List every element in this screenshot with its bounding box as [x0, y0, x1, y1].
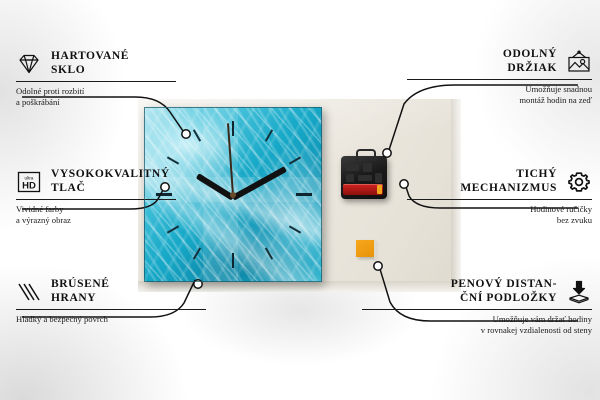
feature-high-quality-print: ultra HD VYSOKOKVALITNÝ TLAČ Vividné far… — [16, 168, 176, 225]
feature-title-line2: SKLO — [51, 64, 129, 78]
feature-subtitle-line1: Umožňuje snadnou — [407, 84, 592, 95]
mechanism-notch-a — [346, 164, 359, 171]
feature-header: TICHÝ MECHANIZMUS — [407, 168, 592, 195]
picture-hanger-icon — [566, 50, 592, 74]
feature-silent-mechanism: TICHÝ MECHANIZMUS Hodinové ručičky bez z… — [407, 168, 592, 225]
feature-foam-spacer-pads: PENOVÝ DISTAN- ČNÍ PODLOŽKY Umožňuje vám… — [362, 278, 592, 335]
mechanism-notch-e — [375, 173, 382, 183]
ground-edges-icon — [16, 280, 42, 304]
feature-title: VYSOKOKVALITNÝ TLAČ — [51, 168, 170, 195]
feature-subtitle: Umožňuje vám držať hodiny v rovnakej vzd… — [362, 314, 592, 335]
feature-title: BRÚSENÉ HRANY — [51, 278, 110, 305]
feature-header: ODOLNÝ DRŽIAK — [407, 48, 592, 75]
feature-subtitle-line2: a poškrábání — [16, 97, 176, 108]
feature-title: TICHÝ MECHANIZMUS — [460, 168, 557, 195]
svg-text:HD: HD — [22, 180, 36, 191]
feature-header: HARTOVANÉ SKLO — [16, 50, 176, 77]
feature-durable-holder: ODOLNÝ DRŽIAK Umožňuje snadnou montáž ho… — [407, 48, 592, 105]
feature-title-line1: ODOLNÝ — [503, 48, 557, 62]
ultra-hd-icon: ultra HD — [16, 170, 42, 194]
foam-spacer-pad — [356, 240, 374, 257]
diamond-icon — [16, 52, 42, 76]
feature-rule — [16, 309, 206, 310]
feature-subtitle-line1: Vividné farby — [16, 204, 176, 215]
clock-tick-6 — [232, 253, 234, 268]
spacer-pad-icon — [566, 280, 592, 304]
feature-subtitle: Vividné farby a výrazný obraz — [16, 204, 176, 225]
feature-title-line1: VYSOKOKVALITNÝ — [51, 168, 170, 182]
feature-header: BRÚSENÉ HRANY — [16, 278, 206, 305]
foam-pad-side-face — [374, 242, 378, 259]
feature-subtitle-line2: montáž hodin na zeď — [407, 95, 592, 106]
battery-positive-terminal — [377, 185, 382, 194]
feature-title-line2: MECHANIZMUS — [460, 182, 557, 196]
feature-header: ultra HD VYSOKOKVALITNÝ TLAČ — [16, 168, 176, 195]
mechanism-notch-c — [346, 174, 354, 182]
clock-hands-cap — [230, 192, 236, 198]
mechanism-hanger-hook — [356, 149, 376, 161]
mechanism-battery — [343, 184, 383, 195]
feature-subtitle: Hladký a bezpečný povrch — [16, 314, 206, 325]
feature-title-line1: HARTOVANÉ — [51, 50, 129, 64]
feature-title: PENOVÝ DISTAN- ČNÍ PODLOŽKY — [451, 278, 557, 305]
feature-subtitle: Umožňuje snadnou montáž hodin na zeď — [407, 84, 592, 105]
feature-subtitle-line1: Hladký a bezpečný povrch — [16, 314, 206, 325]
infographic-canvas: HARTOVANÉ SKLO Odolné proti rozbití a po… — [0, 0, 600, 400]
feature-title-line1: BRÚSENÉ — [51, 278, 110, 292]
feature-rule — [407, 79, 592, 80]
feature-subtitle-line1: Umožňuje vám držať hodiny — [362, 314, 592, 325]
mechanism-notch-d — [358, 175, 372, 181]
feature-rule — [16, 81, 176, 82]
feature-title-line2: HRANY — [51, 292, 110, 306]
feature-title-line1: TICHÝ — [460, 168, 557, 182]
feature-title: HARTOVANÉ SKLO — [51, 50, 129, 77]
mechanism-notch-b — [363, 163, 372, 172]
feature-subtitle-line2: a výrazný obraz — [16, 215, 176, 226]
feature-title-line1: PENOVÝ DISTAN- — [451, 278, 557, 292]
feature-tempered-glass: HARTOVANÉ SKLO Odolné proti rozbití a po… — [16, 50, 176, 107]
feature-subtitle-line2: v rovnakej vzdialenosti od steny — [362, 325, 592, 336]
feature-subtitle: Hodinové ručičky bez zvuku — [407, 204, 592, 225]
feature-title-line2: ČNÍ PODLOŽKY — [451, 292, 557, 306]
feature-rule — [362, 309, 592, 310]
feature-title-line2: TLAČ — [51, 182, 170, 196]
feature-ground-edges: BRÚSENÉ HRANY Hladký a bezpečný povrch — [16, 278, 206, 325]
clock-mechanism — [341, 156, 387, 199]
feature-subtitle-line1: Odolné proti rozbití — [16, 86, 176, 97]
feature-header: PENOVÝ DISTAN- ČNÍ PODLOŽKY — [362, 278, 592, 305]
feature-title-line2: DRŽIAK — [503, 62, 557, 76]
feature-subtitle-line2: bez zvuku — [407, 215, 592, 226]
feature-rule — [407, 199, 592, 200]
feature-subtitle: Odolné proti rozbití a poškrábání — [16, 86, 176, 107]
gear-icon — [566, 170, 592, 194]
clock-tick-3 — [296, 193, 312, 196]
feature-title: ODOLNÝ DRŽIAK — [503, 48, 557, 75]
feature-subtitle-line1: Hodinové ručičky — [407, 204, 592, 215]
clock-tick-12 — [232, 121, 234, 136]
feature-rule — [16, 199, 176, 200]
